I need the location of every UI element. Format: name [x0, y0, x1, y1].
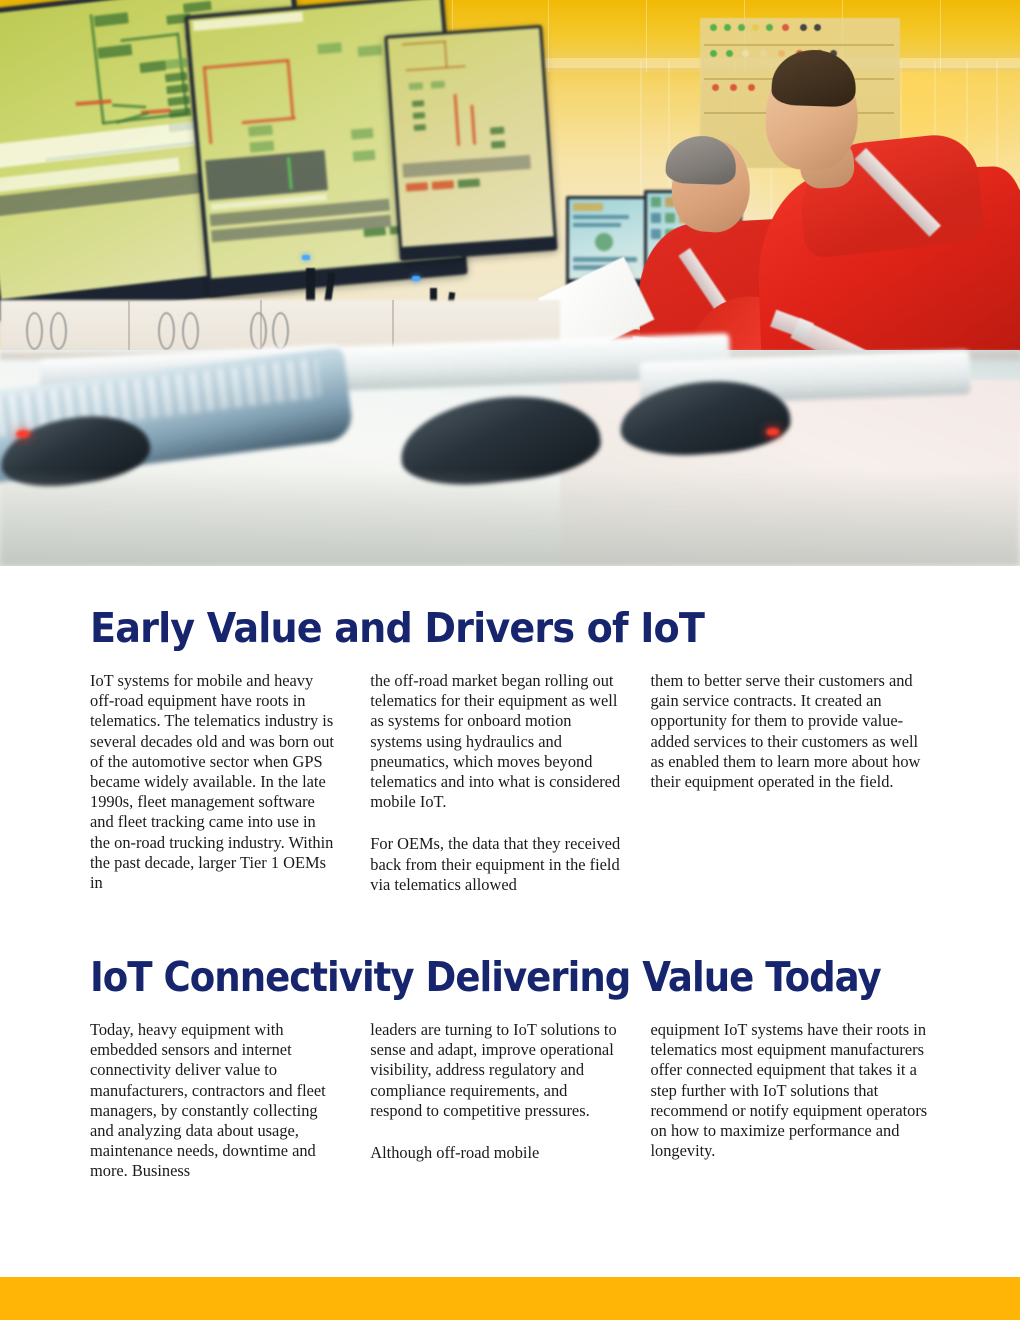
- column-group-iot-connectivity: Today, heavy equipment with embedded sen…: [90, 1020, 930, 1182]
- column-1: IoT systems for mobile and heavy off-roa…: [90, 671, 370, 895]
- monitor-power-led-1: [302, 255, 310, 260]
- scada-monitor-3: [384, 25, 557, 261]
- cabinet-handle-3: [158, 312, 175, 350]
- paragraph: IoT systems for mobile and heavy off-roa…: [90, 671, 338, 893]
- hero-photo-scene: [0, 0, 1020, 566]
- paragraph: Today, heavy equipment with embedded sen…: [90, 1020, 338, 1182]
- section-heading-iot-connectivity: IoT Connectivity Delivering Value Today: [90, 957, 850, 998]
- column-1: Today, heavy equipment with embedded sen…: [90, 1020, 370, 1182]
- foreground-shadow: [0, 470, 1020, 566]
- mouse-led-right: [766, 428, 780, 436]
- paragraph: For OEMs, the data that they received ba…: [370, 834, 622, 895]
- paragraph: Although off-road mobile: [370, 1143, 622, 1163]
- paragraph: the off-road market began rolling out te…: [370, 671, 622, 812]
- scada-screen-3: [388, 28, 554, 247]
- section-iot-connectivity: IoT Connectivity Delivering Value Today …: [0, 895, 1020, 1182]
- column-2: leaders are turning to IoT solutions to …: [370, 1020, 650, 1182]
- column-group-early-value: IoT systems for mobile and heavy off-roa…: [90, 671, 930, 895]
- section-heading-early-value: Early Value and Drivers of IoT: [90, 608, 871, 649]
- cabinet-handle-5: [250, 312, 267, 350]
- paragraph: equipment IoT systems have their roots i…: [650, 1020, 930, 1161]
- cabinet-handle-2: [50, 312, 67, 350]
- cabinet-handle-1: [26, 312, 43, 350]
- article-content: Early Value and Drivers of IoT IoT syste…: [0, 566, 1020, 1182]
- column-3: them to better serve their customers and…: [650, 671, 930, 895]
- footer-accent-bar: [0, 1277, 1020, 1320]
- paragraph: them to better serve their customers and…: [650, 671, 930, 792]
- section-early-value: Early Value and Drivers of IoT IoT syste…: [0, 566, 1020, 895]
- cabinet-handle-4: [182, 312, 199, 350]
- column-2: the off-road market began rolling out te…: [370, 671, 650, 895]
- cabinet-handle-6: [272, 312, 289, 350]
- column-3: equipment IoT systems have their roots i…: [650, 1020, 930, 1182]
- paragraph: leaders are turning to IoT solutions to …: [370, 1020, 622, 1121]
- mouse-led-left: [16, 430, 30, 438]
- monitor-power-led-2: [412, 276, 420, 281]
- hero-photo: [0, 0, 1020, 566]
- article-page: Early Value and Drivers of IoT IoT syste…: [0, 0, 1020, 1320]
